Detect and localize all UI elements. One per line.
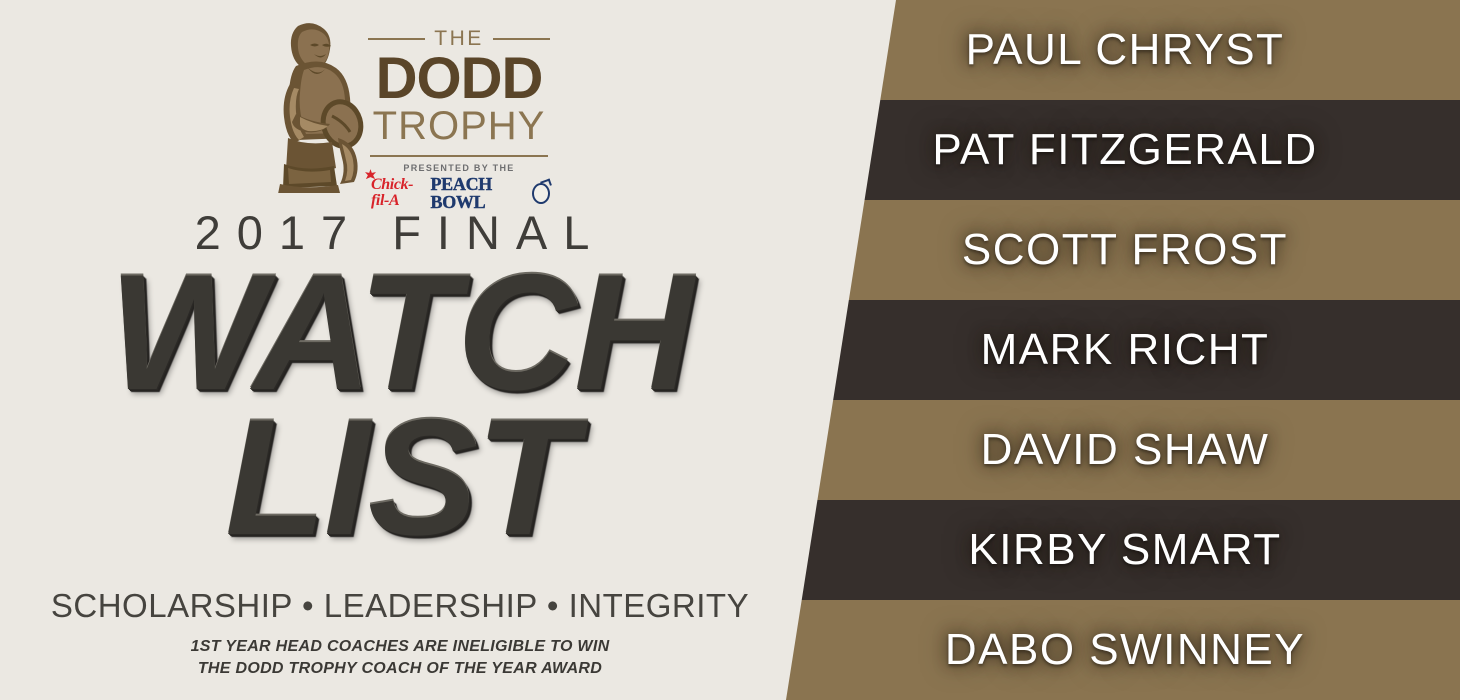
logo-bottom-rule (370, 155, 548, 157)
presented-by-text: PRESENTED BY THE (403, 164, 514, 173)
coach-name[interactable]: DAVID SHAW (790, 400, 1460, 500)
logo-trophy-text: TROPHY (368, 106, 550, 146)
dodd-trophy-watch-list-poster: PAUL CHRYSTPAT FITZGERALDSCOTT FROSTMARK… (0, 0, 1460, 700)
values-tagline: SCHOLARSHIP • LEADERSHIP • INTEGRITY (0, 587, 800, 625)
rule-right (493, 38, 550, 40)
left-panel: THE DODD TROPHY PRESENTED BY THE Chick-f… (0, 0, 800, 700)
eligibility-disclaimer: 1ST YEAR HEAD COACHES ARE INELIGIBLE TO … (0, 636, 800, 679)
logo-dodd-text: DODD (368, 51, 550, 106)
coach-name[interactable]: KIRBY SMART (790, 500, 1460, 600)
dodd-trophy-wordmark: THE DODD TROPHY PRESENTED BY THE Chick-f… (368, 14, 550, 199)
coach-name[interactable]: SCOTT FROST (790, 200, 1460, 300)
dodd-trophy-logo: THE DODD TROPHY PRESENTED BY THE Chick-f… (258, 14, 548, 199)
coach-name[interactable]: PAT FITZGERALD (790, 100, 1460, 200)
disclaimer-line-1: 1ST YEAR HEAD COACHES ARE INELIGIBLE TO … (0, 636, 800, 658)
kneeling-player-statue-icon (258, 18, 370, 193)
peach-fruit-icon (532, 183, 550, 204)
coach-name[interactable]: MARK RICHT (790, 300, 1460, 400)
coach-name[interactable]: DABO SWINNEY (790, 600, 1460, 700)
headline-list: LIST (0, 395, 800, 560)
disclaimer-line-2: THE DODD TROPHY COACH OF THE YEAR AWARD (0, 658, 800, 680)
rule-left (368, 38, 425, 40)
